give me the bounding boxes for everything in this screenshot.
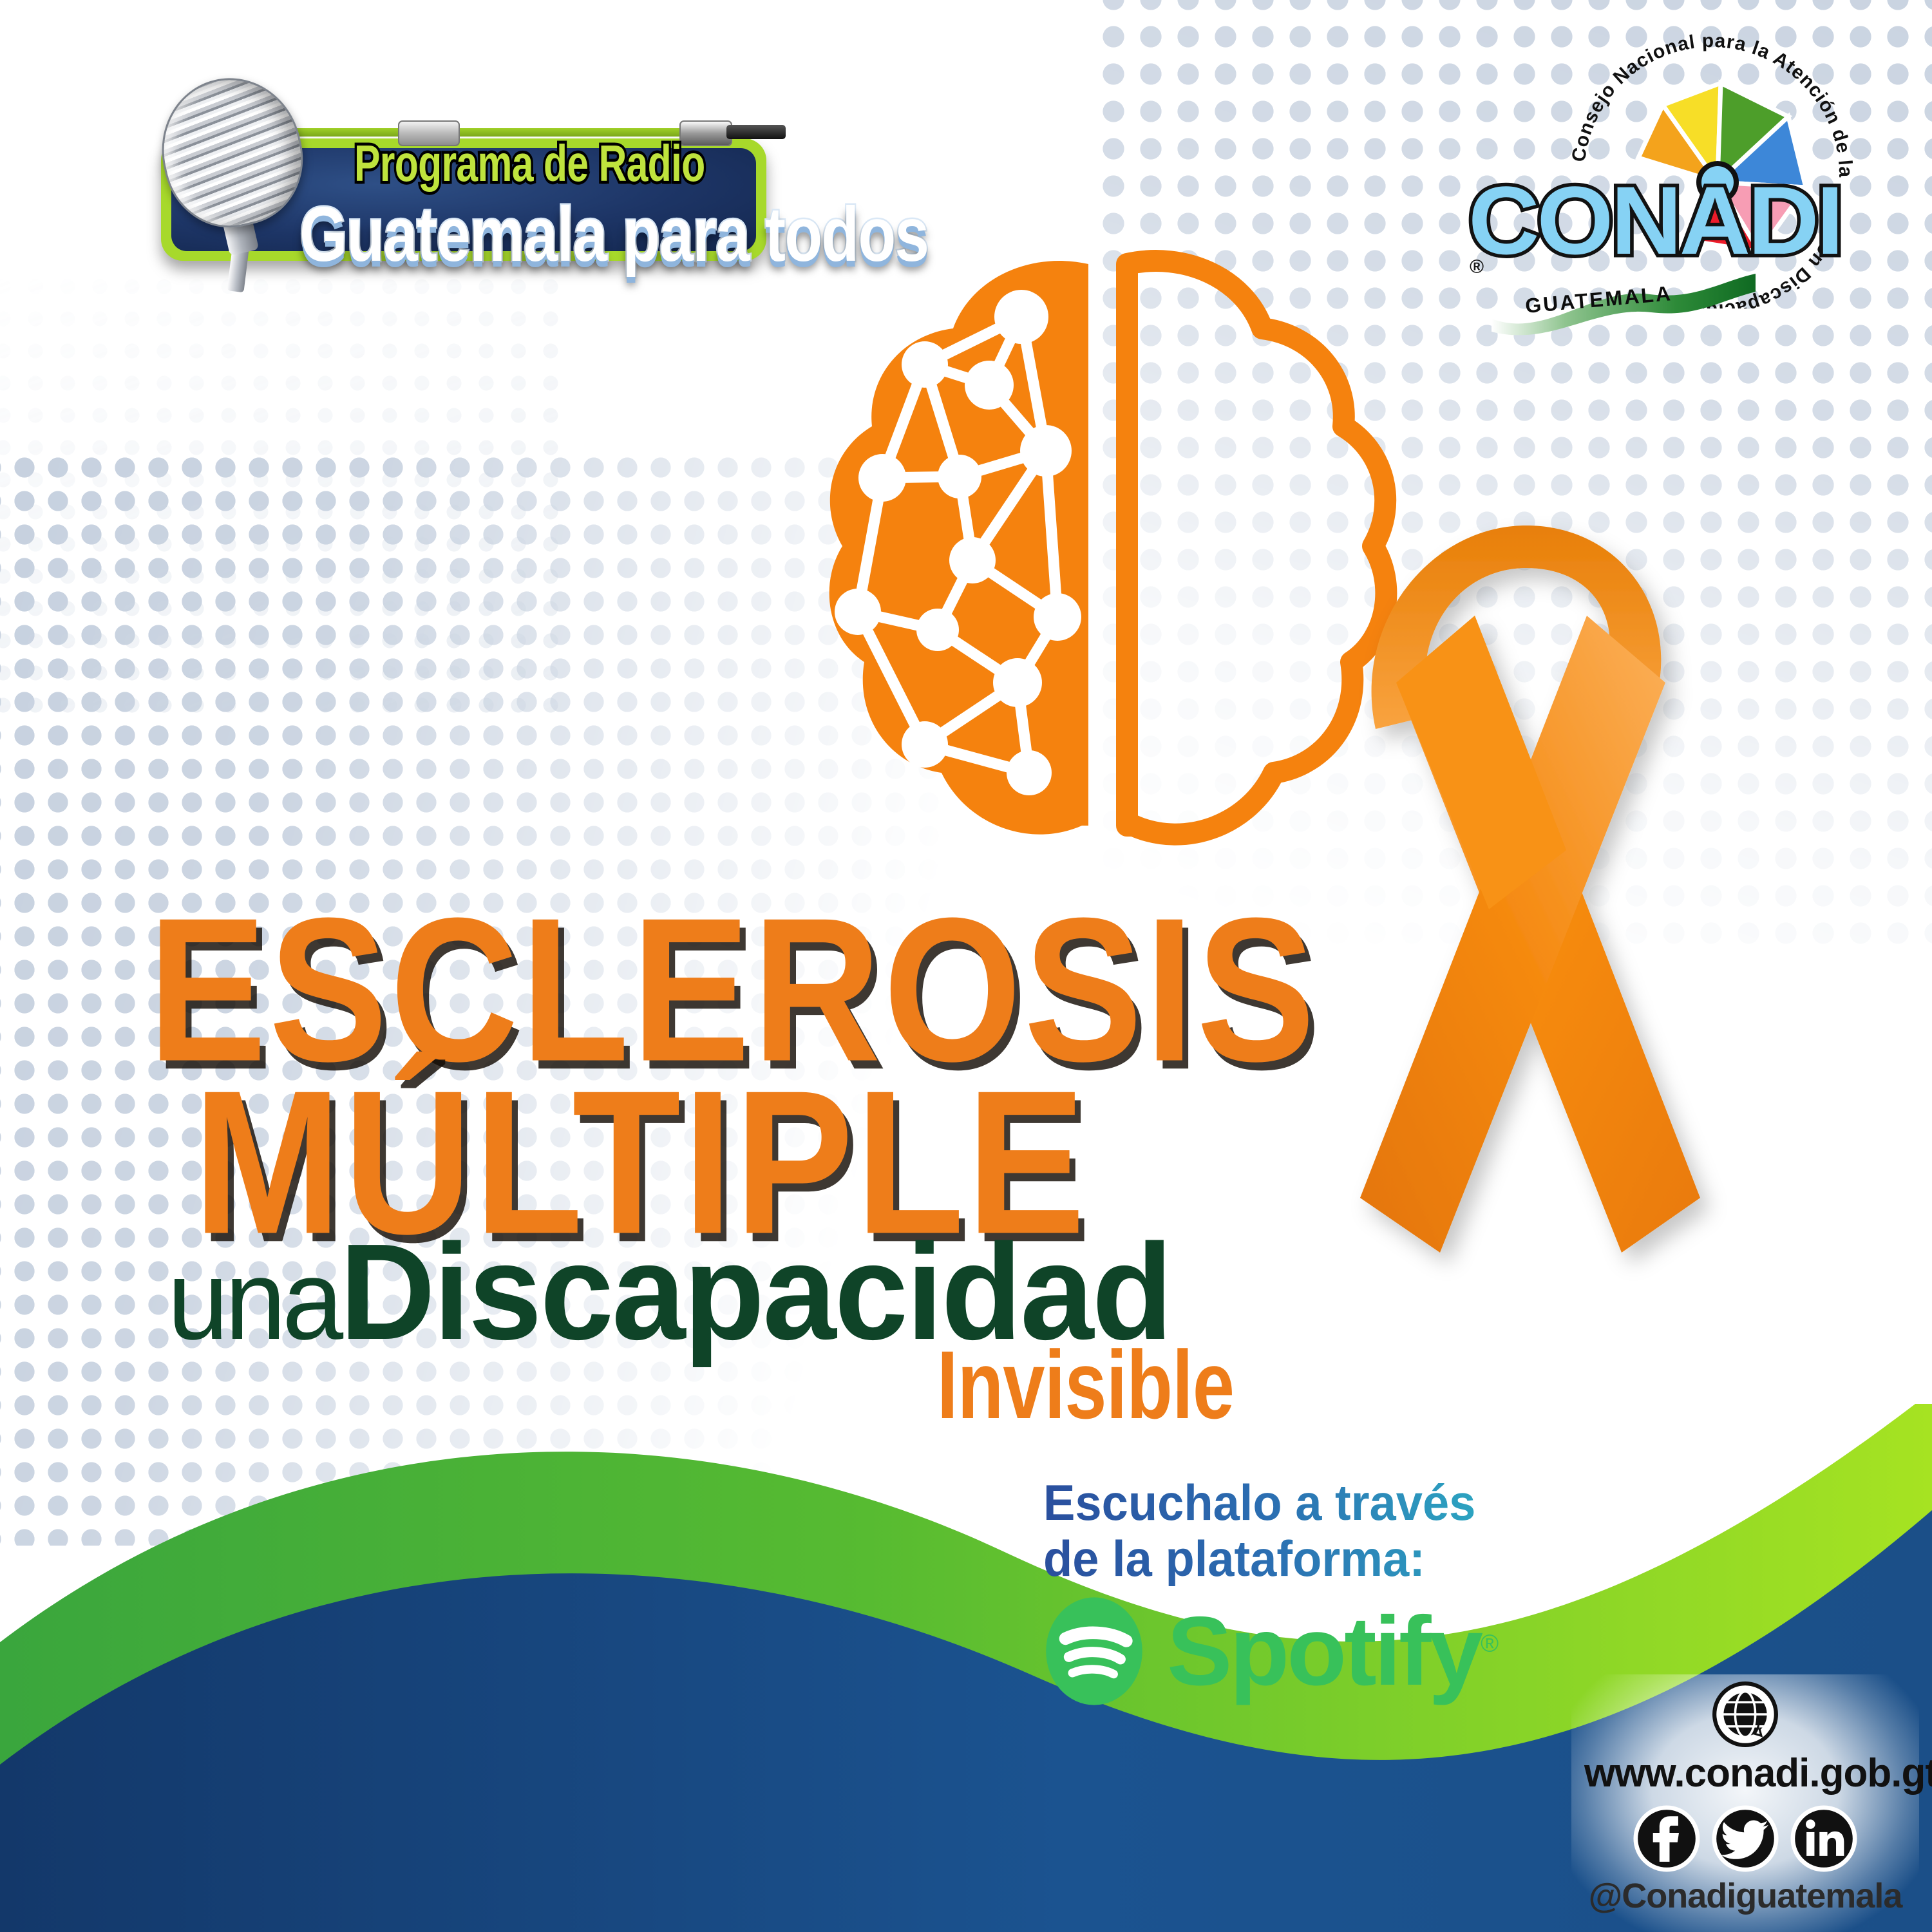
globe-icon[interactable] [1712,1681,1779,1748]
twitter-icon[interactable] [1709,1803,1781,1875]
social-links-row [1584,1803,1906,1875]
conadi-logo: Consejo Nacional para la Atención de las… [1475,23,1900,345]
spotify-wordmark[interactable]: Spotify® [1167,1602,1496,1700]
awareness-ribbon-icon [1314,489,1752,1294]
facebook-icon[interactable] [1631,1803,1703,1875]
vintage-microphone-icon [148,74,322,274]
headline-lead-una: una [167,1237,339,1363]
social-handle[interactable]: @Conadiguatemala [1584,1876,1906,1916]
spotify-badge[interactable]: Spotify® [1037,1594,1496,1709]
listen-cta-text: Escuchalo a través de la plataforma: [1043,1475,1520,1587]
halftone-dots-top-left [0,270,567,721]
microphone-head [147,64,316,241]
radio-program-logo: Programa de Radio Guatemala para todos [77,61,773,274]
listen-cta-block: Escuchalo a través de la plataforma: Spo… [1043,1475,1546,1587]
radio-program-subtitle: Programa de Radio [354,134,705,193]
contact-footer: www.conadi.gob.gt @Conadiguatemala [1584,1681,1906,1926]
cable-tail-icon [726,125,786,139]
website-url[interactable]: www.conadi.gob.gt [1584,1750,1906,1796]
linkedin-icon[interactable] [1788,1803,1860,1875]
poster-canvas: Programa de Radio Guatemala para todos C… [0,0,1932,1932]
spotify-name: Spotify [1167,1596,1481,1706]
spotify-icon[interactable] [1037,1594,1151,1709]
spotify-registered-mark: ® [1481,1630,1496,1657]
